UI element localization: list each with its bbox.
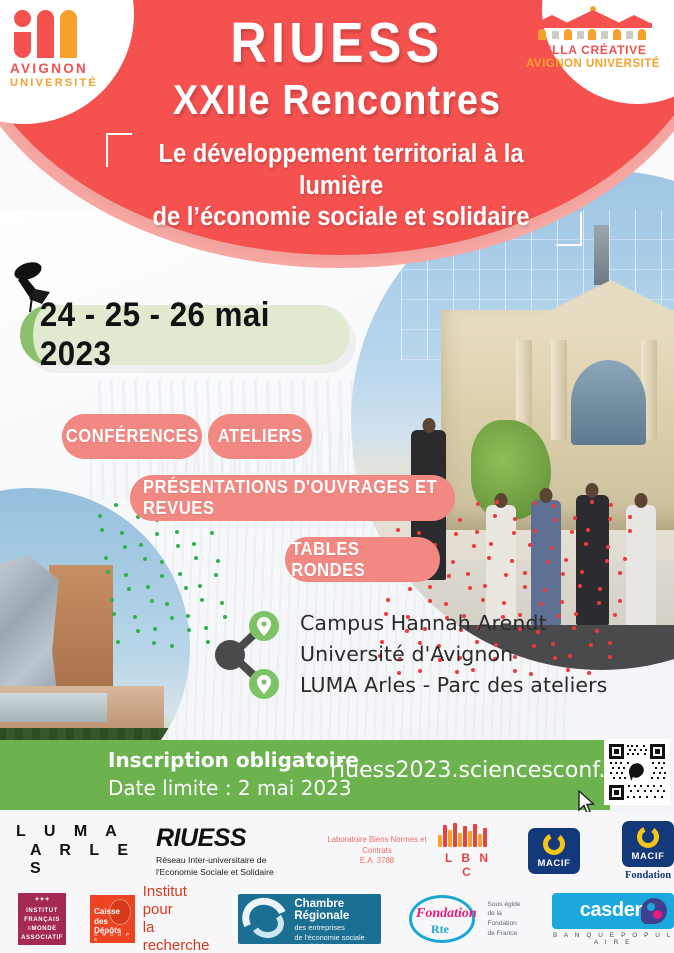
decorative-dot <box>513 517 517 521</box>
decorative-dot <box>528 543 532 547</box>
topic-pill-conferences[interactable]: CONFÉRENCES <box>62 414 202 459</box>
decorative-dot <box>580 570 584 574</box>
decorative-dot <box>176 544 180 548</box>
decorative-dot <box>618 571 622 575</box>
fdf-line1: Sous égide <box>487 900 528 910</box>
decorative-dot <box>504 573 508 577</box>
fondation-de-france-mention: Sous égide de la Fondation de France <box>487 900 528 938</box>
luma-line2: A R L E S <box>16 842 136 879</box>
sponsor-riuess: RIUESS Réseau Inter-universitaire de l'E… <box>156 824 316 878</box>
decorative-dot <box>133 615 137 619</box>
decorative-dot <box>146 585 150 589</box>
ifma-line2: FRANÇAIS <box>24 916 60 925</box>
fondation-rte-line2: Rte <box>431 922 449 937</box>
decorative-dot <box>489 542 493 546</box>
decorative-dot <box>170 616 174 620</box>
macif-logo-mark <box>543 833 565 855</box>
decorative-dot <box>428 585 432 589</box>
decorative-dot <box>523 571 527 575</box>
location-item-1: Campus Hannah Arendt <box>300 608 607 639</box>
sponsor-casden: casden B A N Q U E P O P U L A I R E <box>552 893 674 946</box>
cress-line1: Chambre Régionale <box>294 898 381 922</box>
decorative-dot <box>160 560 164 564</box>
decorative-dot <box>417 531 421 535</box>
ifma-line3: ≡MONDE <box>27 925 56 934</box>
decorative-dot <box>578 584 582 588</box>
decorative-dot <box>623 557 627 561</box>
topic-pill-ateliers[interactable]: ATELIERS <box>208 414 312 459</box>
decorative-dot <box>546 560 550 564</box>
decorative-dot <box>472 544 476 548</box>
decorative-dot <box>454 532 458 536</box>
ifma-line1: INSTITUT <box>26 907 58 916</box>
decorative-dot <box>160 574 164 578</box>
lbnc-desc-1: Laboratoire Biens Normes et Contrats <box>322 835 432 856</box>
decorative-dot <box>618 599 622 603</box>
registration-url[interactable]: riuess2023.sciencesconf.org <box>330 758 642 783</box>
decorative-dot <box>396 528 400 532</box>
decorative-dot <box>552 504 556 508</box>
decorative-dot <box>100 528 104 532</box>
decorative-dot <box>539 602 543 606</box>
sponsor-macif: MACIF <box>528 828 580 874</box>
sponsor-caisse-des-depots: Caisse des Dépôts G R O U P E <box>90 895 135 943</box>
decorative-dot <box>214 573 218 577</box>
poster-subtitle: XXIIe Rencontres <box>34 76 641 124</box>
decorative-dot <box>112 612 116 616</box>
decorative-dot <box>175 530 179 534</box>
decorative-dot <box>451 560 455 564</box>
locations-network-icon <box>208 605 284 705</box>
sponsor-institut-francais-monde-associatif: ✦✦✦ INSTITUT FRANÇAIS ≡MONDE ASSOCIATIF <box>18 893 66 945</box>
sponsors-row-1: L U M A A R L E S RIUESS Réseau Inter-un… <box>0 820 674 882</box>
cress-line2: des entreprises <box>294 923 381 933</box>
topic-label-tables-rondes: TABLES RONDES <box>291 539 434 581</box>
decorative-dot <box>136 629 140 633</box>
decorative-dot <box>560 600 564 604</box>
poster-title: RIUESS <box>40 10 633 76</box>
decorative-dot <box>200 598 204 602</box>
decorative-dot <box>609 503 613 507</box>
theme-line-2: de l’économie sociale et solidaire <box>135 202 546 234</box>
event-dates-label: 24 - 25 - 26 mai 2023 <box>40 296 337 374</box>
topic-pill-presentations[interactable]: PRÉSENTATIONS D'OUVRAGES ET REVUES <box>130 475 455 521</box>
lbnc-acronym: L B N C <box>436 851 500 879</box>
poster-theme-block: Le développement territorial à la lumièr… <box>106 133 576 234</box>
decorative-dot <box>114 503 118 507</box>
topic-label-ateliers: ATELIERS <box>217 426 302 447</box>
caisse-line3: G R O U P E <box>94 932 135 942</box>
decorative-dot <box>468 586 472 590</box>
decorative-dot <box>116 640 120 644</box>
macif-fondation-logo-mark <box>637 826 659 848</box>
decorative-dot <box>608 517 612 521</box>
decorative-dot <box>194 556 198 560</box>
decorative-dot <box>447 574 451 578</box>
decorative-dot <box>523 585 527 589</box>
decorative-dot <box>561 572 565 576</box>
decorative-dot <box>153 627 157 631</box>
location-item-3: LUMA Arles - Parc des ateliers <box>300 670 607 701</box>
decorative-dot <box>143 557 147 561</box>
cress-line3: de l'économie sociale <box>294 933 381 943</box>
location-item-2: Université d'Avignon <box>300 639 607 670</box>
event-dates-pill: 24 - 25 - 26 mai 2023 <box>20 305 350 365</box>
decorative-dot <box>573 516 577 520</box>
decorative-dot <box>628 529 632 533</box>
sponsor-macif-fondation: MACIF Fondation <box>622 821 674 881</box>
decorative-dot <box>475 530 479 534</box>
decorative-dot <box>150 599 154 603</box>
poster-root: AVIGNON UNIVERSITÉ VILLA CRÉATIVE AVIGNO… <box>0 0 674 953</box>
topic-label-conferences: CONFÉRENCES <box>65 426 198 447</box>
decorative-dot <box>597 601 601 605</box>
decorative-dot <box>590 500 594 504</box>
sponsor-cress-paca: Chambre Régionale des entreprises de l'é… <box>238 894 381 944</box>
decorative-dot <box>502 601 506 605</box>
ifma-line4: ASSOCIATIF <box>21 934 63 943</box>
casden-sub: B A N Q U E P O P U L A I R E <box>552 932 674 946</box>
registration-headline: Inscription obligatoire <box>108 748 359 772</box>
decorative-dot <box>510 559 514 563</box>
decorative-dot <box>386 598 390 602</box>
ipr-line1: Institut pour <box>143 883 217 919</box>
decorative-dot <box>408 587 412 591</box>
decorative-dot <box>458 518 462 522</box>
decorative-dot <box>476 502 480 506</box>
decorative-dot <box>598 587 602 591</box>
decorative-dot <box>98 514 102 518</box>
sponsor-lbnc-mark: L B N C <box>436 823 500 879</box>
decorative-dot <box>550 546 554 550</box>
decorative-dot <box>533 529 537 533</box>
decorative-dot <box>165 602 169 606</box>
qr-code[interactable] <box>604 739 670 805</box>
decorative-dot <box>495 500 499 504</box>
decorative-dot <box>586 528 590 532</box>
decorative-dot <box>628 515 632 519</box>
decorative-dot <box>584 542 588 546</box>
decorative-dot <box>155 532 159 536</box>
decorative-dot <box>608 641 612 645</box>
decorative-dot <box>466 572 470 576</box>
sponsors-row-2: ✦✦✦ INSTITUT FRANÇAIS ≡MONDE ASSOCIATIF … <box>0 888 674 950</box>
caisse-line1: Caisse <box>94 907 135 916</box>
decorative-dot <box>483 584 487 588</box>
macif-name: MACIF <box>537 858 570 869</box>
decorative-dot <box>512 531 516 535</box>
decorative-dot <box>570 530 574 534</box>
fdf-line2: de la Fondation <box>487 909 528 928</box>
decorative-dot <box>104 556 108 560</box>
registration-deadline: Date limite : 2 mai 2023 <box>108 776 359 800</box>
decorative-dot <box>608 655 612 659</box>
fondation-rte-line1: Fondation <box>416 906 477 922</box>
lbnc-bars-icon <box>436 823 494 853</box>
decorative-dot <box>178 572 182 576</box>
cress-line4: et solidaire <box>294 942 381 944</box>
casden-bubble-icon <box>641 898 667 924</box>
decorative-dot <box>110 598 114 602</box>
decorative-dot <box>186 614 190 618</box>
decorative-dot <box>553 518 557 522</box>
decorative-dot <box>198 584 202 588</box>
riuess-sponsor-name: RIUESS <box>156 824 316 853</box>
decorative-dot <box>192 542 196 546</box>
sponsor-institut-pour-la-recherche: Institut pour la recherche <box>143 883 217 953</box>
sponsor-fondation-rte: Fondation Rte <box>403 893 481 945</box>
decorative-dot <box>493 514 497 518</box>
decorative-dot <box>564 558 568 562</box>
decorative-dot <box>487 556 491 560</box>
decorative-dot <box>606 545 610 549</box>
sponsor-lbnc-text: Laboratoire Biens Normes et Contrats E.A… <box>322 835 432 867</box>
fdf-line3: de France <box>487 929 528 939</box>
decorative-dot <box>481 598 485 602</box>
theme-line-1: Le développement territorial à la lumièr… <box>135 139 546 202</box>
decorative-dot <box>216 559 220 563</box>
decorative-dot <box>428 599 432 603</box>
decorative-dot <box>106 570 110 574</box>
decorative-dot <box>120 531 124 535</box>
decorative-dot <box>127 587 131 591</box>
decorative-dot <box>152 641 156 645</box>
decorative-dot <box>444 602 448 606</box>
decorative-dot <box>139 543 143 547</box>
decorative-dot <box>123 545 127 549</box>
riuess-tagline-2: l'Economie Sociale et Solidaire <box>156 867 316 879</box>
decorative-dot <box>124 573 128 577</box>
casden-name: casden <box>580 899 647 922</box>
decorative-dot <box>184 586 188 590</box>
locations-list: Campus Hannah Arendt Université d'Avigno… <box>300 608 607 700</box>
luma-line1: L U M A <box>16 823 136 841</box>
decorative-dot <box>613 613 617 617</box>
macif-fondation-name: MACIF <box>631 851 664 862</box>
macif-fondation-sub: Fondation <box>622 870 674 881</box>
riuess-tagline-1: Réseau Inter-universitaire de <box>156 855 316 867</box>
lbnc-desc-2: E.A. 3788 <box>322 856 432 867</box>
decorative-dot <box>543 588 547 592</box>
sponsors-section: L U M A A R L E S RIUESS Réseau Inter-un… <box>0 812 674 953</box>
theme-bracket-right <box>556 212 582 246</box>
qr-code-image <box>606 741 668 803</box>
topic-label-presentations: PRÉSENTATIONS D'OUVRAGES ET REVUES <box>143 477 442 519</box>
sponsor-luma-arles: L U M A A R L E S <box>16 823 136 878</box>
topic-pill-tables-rondes[interactable]: TABLES RONDES <box>285 537 440 582</box>
decorative-dot <box>187 628 191 632</box>
decorative-dot <box>210 531 214 535</box>
decorative-dot <box>533 501 537 505</box>
ifma-stars: ✦✦✦ <box>35 896 50 905</box>
ipr-line2: la recherche <box>143 919 217 953</box>
decorative-dot <box>605 559 609 563</box>
decorative-dot <box>170 644 174 648</box>
